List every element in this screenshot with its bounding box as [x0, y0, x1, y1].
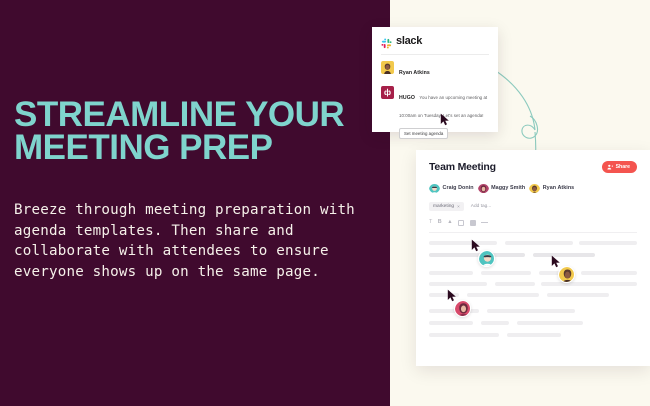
table-icon[interactable] — [458, 220, 464, 226]
ryan-avatar — [558, 266, 575, 283]
maggy-avatar — [478, 182, 489, 193]
note-line — [429, 321, 473, 325]
attendee-list: Craig Donin Maggy Smith — [429, 182, 637, 193]
craig-avatar — [429, 182, 440, 193]
tag-remove-icon[interactable]: × — [457, 204, 460, 209]
hugo-logo-icon: ф — [381, 86, 394, 99]
attendee-craig[interactable]: Craig Donin — [429, 182, 474, 193]
hero-body-text: Breeze through meeting preparation with … — [14, 200, 374, 282]
note-line — [579, 241, 637, 245]
slack-message-ryan: Ryan Atkins — [381, 61, 489, 79]
ryan-avatar — [529, 182, 540, 193]
note-line — [481, 271, 531, 275]
note-line — [429, 241, 497, 245]
attendee-name: Maggy Smith — [491, 185, 525, 191]
note-line — [495, 282, 535, 286]
text-format-icon[interactable]: T — [429, 220, 432, 225]
image-icon[interactable] — [470, 220, 476, 226]
team-meeting-card: Team Meeting Share — [416, 150, 650, 366]
attendee-maggy[interactable]: Maggy Smith — [478, 182, 526, 193]
maggy-avatar — [454, 300, 471, 317]
editor-toolbar: T B ▲ — [429, 220, 637, 233]
slack-message-hugo: ф HUGO You have an upcoming meeting at 1… — [381, 86, 489, 140]
slack-brand-header: slack — [381, 35, 489, 47]
tag-label: marketing — [433, 204, 454, 209]
hero-left-panel: STREAMLINE YOUR MEETING PREP Breeze thro… — [0, 0, 390, 406]
headline-line-2: MEETING PREP — [14, 131, 379, 164]
craig-avatar — [478, 250, 495, 267]
share-button-label: Share — [616, 164, 630, 170]
tag-row: marketing × Add tag... — [429, 202, 637, 211]
note-line — [541, 282, 637, 286]
note-line — [467, 293, 539, 297]
meeting-notes-body[interactable] — [429, 241, 637, 361]
slack-notification-card: slack Ryan Atkins ф HUGO — [372, 27, 498, 132]
meeting-header: Team Meeting Share — [429, 161, 637, 173]
note-line — [429, 282, 487, 286]
ryan-avatar — [381, 61, 394, 74]
slack-wordmark: slack — [396, 35, 422, 47]
page-title: STREAMLINE YOUR MEETING PREP — [14, 98, 379, 164]
screenshot-stage: STREAMLINE YOUR MEETING PREP Breeze thro… — [0, 0, 650, 406]
bold-icon[interactable]: B — [438, 220, 442, 225]
add-tag-button[interactable]: Add tag... — [471, 204, 492, 209]
attendee-ryan[interactable]: Ryan Atkins — [529, 182, 574, 193]
note-line — [547, 293, 609, 297]
attendee-name: Ryan Atkins — [543, 185, 575, 191]
note-line — [581, 271, 637, 275]
note-line — [517, 321, 583, 325]
note-line — [533, 253, 595, 257]
share-button[interactable]: Share — [602, 161, 637, 173]
divider-icon[interactable] — [481, 222, 488, 223]
person-add-icon — [607, 164, 613, 170]
slack-message-author: Ryan Atkins — [399, 70, 430, 76]
note-line — [505, 241, 573, 245]
slack-logo-icon — [381, 36, 392, 47]
attendee-name: Craig Donin — [443, 185, 474, 191]
divider — [381, 54, 489, 55]
slack-message-author: HUGO — [399, 95, 415, 101]
note-line — [429, 271, 473, 275]
tag-marketing[interactable]: marketing × — [429, 202, 464, 211]
set-meeting-agenda-button[interactable]: Set meeting agenda — [399, 128, 448, 138]
slack-message-body: Ryan Atkins — [399, 61, 489, 79]
note-line — [487, 309, 575, 313]
note-line — [481, 321, 509, 325]
meeting-title: Team Meeting — [429, 161, 496, 173]
note-line — [507, 333, 561, 337]
note-line — [429, 333, 499, 337]
highlight-icon[interactable]: ▲ — [447, 220, 452, 225]
